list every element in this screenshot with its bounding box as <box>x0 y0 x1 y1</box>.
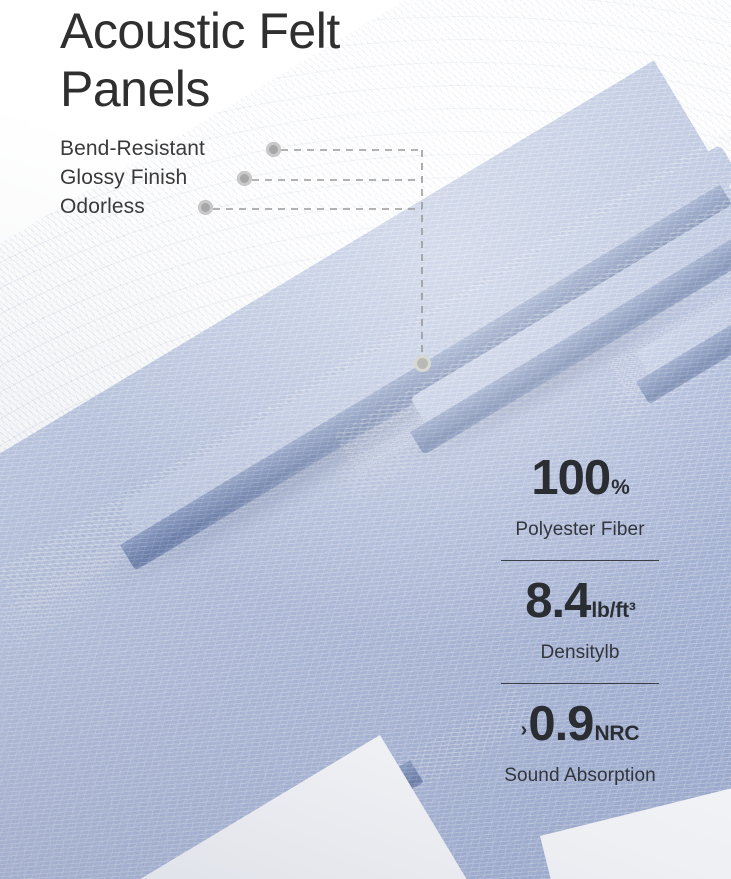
callout-dot-icon <box>198 200 213 215</box>
stat-number: 8.4 <box>525 574 590 628</box>
product-banner: Acoustic Felt Panels Bend-Resistant Glos… <box>0 0 731 879</box>
stat-nrc: ›0.9NRC Sound Absorption <box>455 698 705 788</box>
page-title: Acoustic Felt Panels <box>60 2 480 118</box>
feature-label: Glossy Finish <box>60 164 187 192</box>
stat-density: 8.4lb/ft³ Densitylb <box>455 575 705 665</box>
feature-list: Bend-Resistant Glossy Finish Odorless <box>60 135 420 222</box>
stat-divider <box>501 560 659 561</box>
spec-stats: 100% Polyester Fiber 8.4lb/ft³ Densitylb… <box>455 452 705 788</box>
feature-item: Glossy Finish <box>60 164 420 193</box>
stat-number: 0.9 <box>528 697 593 751</box>
stat-number: 100 <box>531 451 610 505</box>
feature-label: Odorless <box>60 193 145 221</box>
stat-value: ›0.9NRC <box>455 698 705 760</box>
stat-divider <box>501 683 659 684</box>
stat-unit: NRC <box>594 722 639 745</box>
feature-label: Bend-Resistant <box>60 135 205 163</box>
feature-item: Odorless <box>60 193 420 222</box>
stat-label: Sound Absorption <box>455 764 705 788</box>
stat-unit: lb/ft³ <box>591 599 635 622</box>
stat-label: Densitylb <box>455 641 705 665</box>
feature-item: Bend-Resistant <box>60 135 420 164</box>
stat-label: Polyester Fiber <box>455 518 705 542</box>
stat-value: 8.4lb/ft³ <box>455 575 705 637</box>
stat-polyester: 100% Polyester Fiber <box>455 452 705 542</box>
callout-dot-icon <box>237 171 252 186</box>
stat-prefix: › <box>521 719 528 741</box>
stat-unit: % <box>611 476 629 499</box>
callout-endpoint-dot-icon <box>414 355 431 372</box>
stat-value: 100% <box>455 452 705 514</box>
overlay-layer: Acoustic Felt Panels Bend-Resistant Glos… <box>0 0 731 879</box>
callout-dot-icon <box>266 142 281 157</box>
